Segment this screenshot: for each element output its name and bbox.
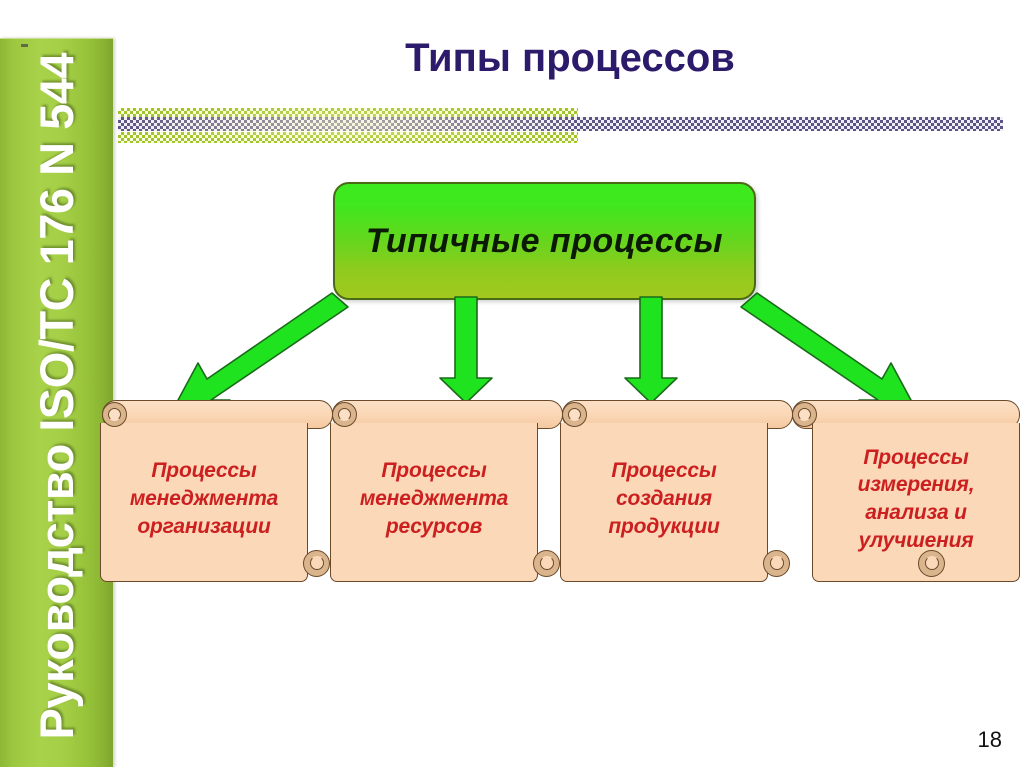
- scroll-body: Процессы создания продукции: [560, 423, 768, 582]
- arrow-to-box-1: [177, 293, 348, 402]
- page-number: 18: [978, 727, 1002, 753]
- scroll-card-line-1: Процессы: [608, 457, 719, 485]
- scroll-body: Процессы менеджмента организации: [100, 423, 308, 582]
- process-scroll-card-4: Процессы измерения, анализа и улучшения: [790, 400, 1023, 582]
- scroll-curl-bottom-right-icon: [533, 550, 560, 577]
- scroll-curl-bottom-right-icon: [303, 550, 330, 577]
- process-scroll-card-2: Процессы менеджмента ресурсов: [330, 400, 563, 582]
- scroll-body: Процессы менеджмента ресурсов: [330, 423, 538, 582]
- divider-band-middle: [118, 117, 1003, 131]
- scroll-card-text: Процессы менеджмента организации: [130, 457, 278, 540]
- divider-band-lower: [118, 132, 578, 143]
- page-title: Типы процессов: [140, 36, 1000, 81]
- scroll-curl-top-left-icon: [102, 402, 127, 427]
- scroll-card-line-1: Процессы: [858, 444, 975, 472]
- root-node-label: Типичные процессы: [366, 222, 723, 261]
- decorative-divider: [118, 104, 1003, 144]
- sidebar-top-mark-icon: [21, 44, 28, 47]
- scroll-card-line-3: анализа и: [858, 499, 975, 527]
- process-scroll-card-3: Процессы создания продукции: [560, 400, 793, 582]
- arrow-to-box-2: [440, 297, 492, 403]
- arrow-to-box-4: [741, 293, 912, 402]
- sidebar-vertical-bar: Руководство ISO/TC 176 N 544: [0, 38, 113, 767]
- scroll-card-text: Процессы менеджмента ресурсов: [360, 457, 508, 540]
- scroll-card-text: Процессы создания продукции: [608, 457, 719, 540]
- slide-canvas: Руководство ISO/TC 176 N 544 Типы процес…: [0, 0, 1024, 767]
- process-scroll-card-1: Процессы менеджмента организации: [100, 400, 333, 582]
- arrow-to-box-3: [625, 297, 677, 403]
- scroll-card-line-1: Процессы: [130, 457, 278, 485]
- scroll-card-line-2: измерения,: [858, 471, 975, 499]
- scroll-card-line-2: менеджмента: [130, 485, 278, 513]
- scroll-card-line-2: создания: [608, 485, 719, 513]
- scroll-card-line-3: продукции: [608, 513, 719, 541]
- scroll-curl-top-left-icon: [562, 402, 587, 427]
- root-node-box: Типичные процессы: [333, 182, 756, 300]
- scroll-card-line-3: организации: [130, 513, 278, 541]
- scroll-curl-bottom-right-icon: [918, 550, 945, 577]
- scroll-curl-bottom-right-icon: [763, 550, 790, 577]
- scroll-body: Процессы измерения, анализа и улучшения: [812, 423, 1020, 582]
- scroll-card-line-1: Процессы: [360, 457, 508, 485]
- scroll-curl-top-left-icon: [332, 402, 357, 427]
- scroll-card-text: Процессы измерения, анализа и улучшения: [858, 444, 975, 555]
- scroll-curl-top-left-icon: [792, 402, 817, 427]
- scroll-card-line-3: ресурсов: [360, 513, 508, 541]
- sidebar-label: Руководство ISO/TC 176 N 544: [0, 39, 113, 767]
- scroll-card-line-2: менеджмента: [360, 485, 508, 513]
- scroll-card-line-4: улучшения: [858, 527, 975, 555]
